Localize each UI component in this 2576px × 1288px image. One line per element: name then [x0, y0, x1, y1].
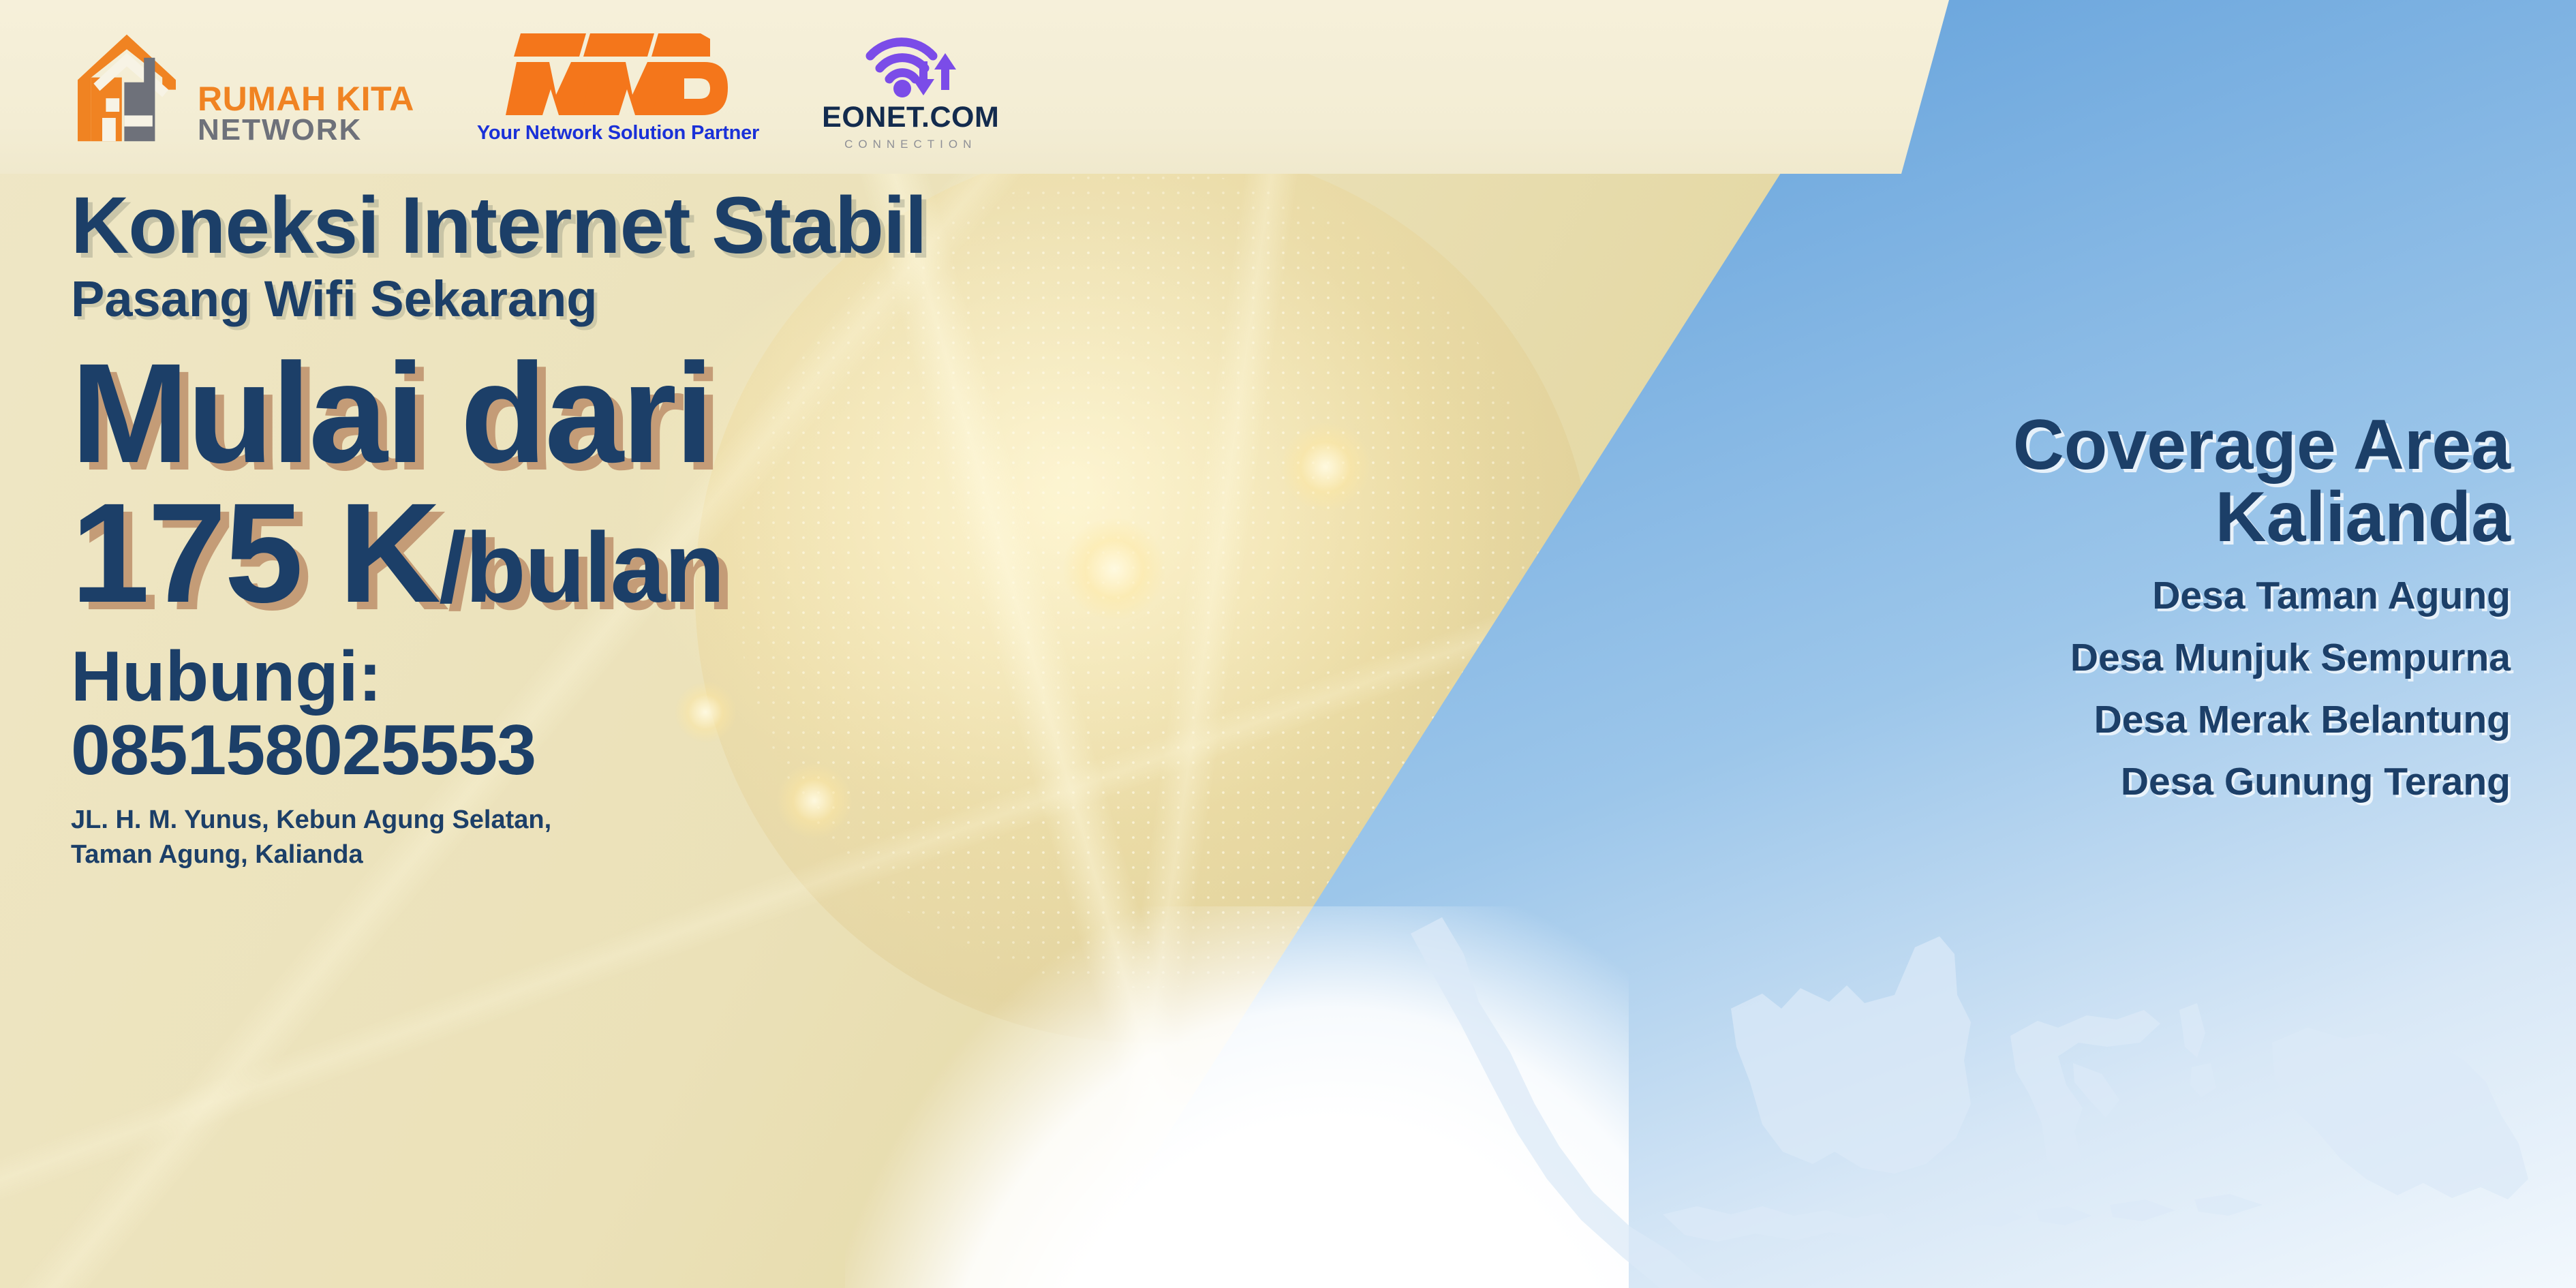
price-line: 175 K/bulan: [71, 485, 1243, 624]
coverage-area-item: Desa Taman Agung: [1706, 577, 2511, 615]
promo-banner: RUMAH KITA NETWORK Your Network Solution…: [0, 0, 2576, 1288]
coverage-area-item: Desa Gunung Terang: [1706, 763, 2511, 801]
logo-rumah-kita: RUMAH KITA NETWORK: [65, 26, 414, 149]
price-unit: /bulan: [439, 512, 724, 623]
coverage-area-item: Desa Merak Belantung: [1706, 701, 2511, 739]
coverage-area-item: Desa Munjuk Sempurna: [1706, 639, 2511, 677]
contact-address: JL. H. M. Yunus, Kebun Agung Selatan, Ta…: [71, 803, 1243, 873]
logo-eonet-subtitle: CONNECTION: [844, 138, 977, 151]
coverage-subtitle: Kalianda: [1706, 481, 2511, 553]
logo-bar: RUMAH KITA NETWORK Your Network Solution…: [0, 0, 1949, 174]
coverage-section: Coverage Area Kalianda Desa Taman Agung …: [1706, 409, 2511, 801]
logo-rumah-kita-sub: NETWORK: [198, 116, 414, 144]
subheadline: Pasang Wifi Sekarang: [71, 273, 1243, 326]
mmd-wordmark-icon: [506, 29, 731, 119]
price-intro: Mulai dari: [71, 346, 1243, 482]
logo-mmd: Your Network Solution Partner: [477, 29, 759, 144]
headline: Koneksi Internet Stabil: [71, 185, 1243, 266]
house-network-icon: [65, 26, 188, 149]
wifi-updown-icon: [859, 23, 962, 99]
logo-eonet-name: EONET.COM: [822, 101, 999, 134]
contact-label: Hubungi:: [71, 640, 1243, 714]
address-line-2: Taman Agung, Kalianda: [71, 838, 1243, 873]
logo-rumah-kita-name: RUMAH KITA: [198, 83, 414, 116]
price-amount: 175 K: [71, 474, 439, 632]
coverage-title: Coverage Area: [1706, 409, 2511, 481]
logo-eonet: EONET.COM CONNECTION: [822, 23, 999, 151]
coverage-area-list: Desa Taman Agung Desa Munjuk Sempurna De…: [1706, 577, 2511, 801]
logo-mmd-tagline: Your Network Solution Partner: [477, 122, 759, 144]
offer-section: Koneksi Internet Stabil Pasang Wifi Seka…: [71, 185, 1243, 873]
address-line-1: JL. H. M. Yunus, Kebun Agung Selatan,: [71, 803, 1243, 838]
contact-phone[interactable]: 085158025553: [71, 714, 1243, 787]
